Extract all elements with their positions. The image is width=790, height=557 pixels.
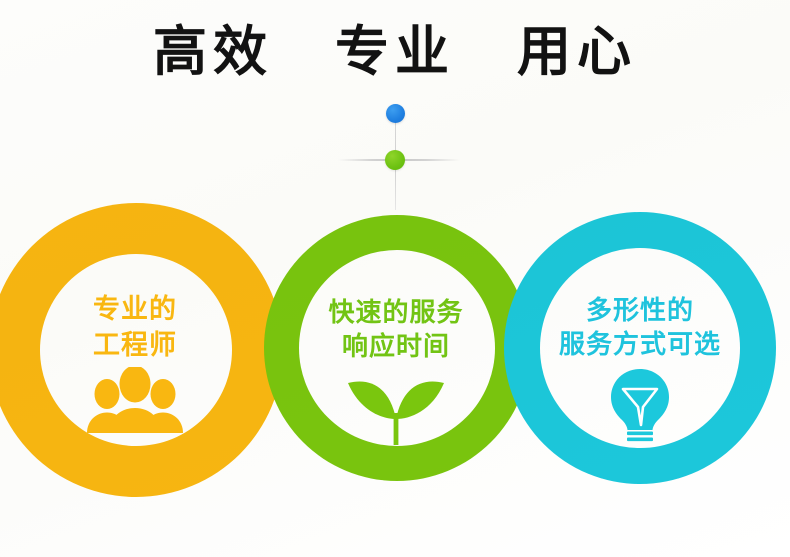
rings-svg — [0, 0, 790, 557]
infographic-canvas: 高效 专业 用心 — [0, 0, 790, 557]
ring-cyan — [0, 0, 790, 557]
venn-rings — [0, 0, 790, 557]
